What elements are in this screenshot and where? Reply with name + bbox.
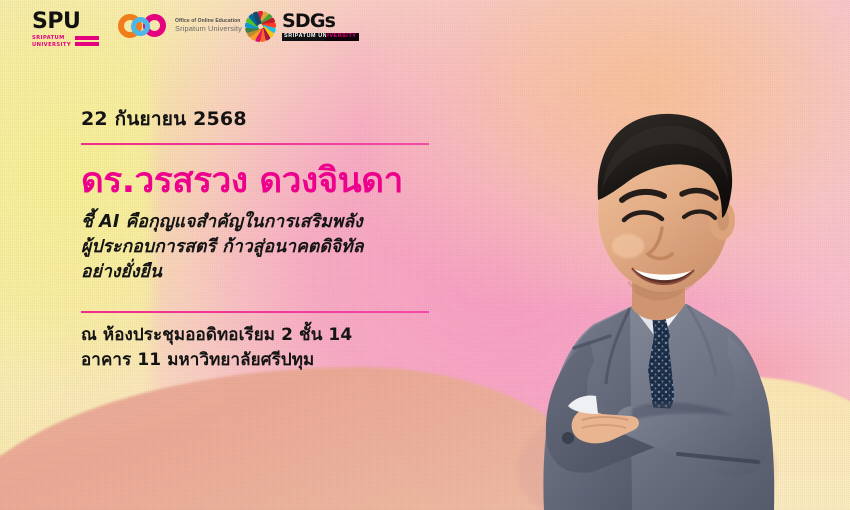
speaker-name: ดร.วรสรวง ดวงจินดา xyxy=(81,162,511,201)
spu-logo: SPU SRIPATUM UNIVERSITY xyxy=(32,11,102,49)
event-tagline: ชี้ AI คือกุญแจสำคัญในการเสริมพลัง ผู้ปร… xyxy=(81,210,511,285)
ooe-ring-blue xyxy=(131,17,150,36)
office-of-online-education-logo: Office of Online Education Sripatum Univ… xyxy=(118,13,242,39)
ooe-logo-line2: Sripatum University xyxy=(175,24,242,33)
speaker-portrait xyxy=(482,40,812,510)
sdgs-wheel-icon xyxy=(244,10,277,43)
spu-logo-line2: UNIVERSITY xyxy=(32,42,71,49)
venue-line-1: ณ ห้องประชุมออดิทอเรียม 2 ชั้น 14 xyxy=(81,323,511,349)
tagline-line-1: ชี้ AI คือกุญแจสำคัญในการเสริมพลัง xyxy=(81,210,511,235)
ooe-rings-icon xyxy=(118,13,170,39)
spu-logo-bar-1 xyxy=(75,36,99,40)
event-date: 22 กันยายน 2568 xyxy=(81,108,511,131)
poster-content: 22 กันยายน 2568 ดร.วรสรวง ดวงจินดา ชี้ A… xyxy=(81,108,511,374)
sdgs-logo: SDGs SRIPATUM UNIVERSITY xyxy=(244,10,359,43)
logo-bar: SPU SRIPATUM UNIVERSITY Office of Online xyxy=(0,0,850,56)
event-venue: ณ ห้องประชุมออดิทอเรียม 2 ชั้น 14 อาคาร … xyxy=(81,323,511,374)
tagline-line-2: ผู้ประกอบการสตรี ก้าวสู่อนาคตดิจิทัล xyxy=(81,235,511,260)
spu-logo-bar-2 xyxy=(75,42,99,46)
sdgs-logo-wordmark: SDGs xyxy=(282,12,359,31)
divider-bottom xyxy=(81,311,429,313)
venue-line-2: อาคาร 11 มหาวิทยาลัยศรีปทุม xyxy=(81,348,511,374)
sdgs-logo-subtitle: SRIPATUM UNIVERSITY xyxy=(282,33,359,40)
spu-logo-wordmark: SPU xyxy=(32,11,102,33)
tagline-line-3: อย่างยั่งยืน xyxy=(81,260,511,285)
event-poster: SPU SRIPATUM UNIVERSITY Office of Online xyxy=(0,0,850,510)
spu-logo-line1: SRIPATUM xyxy=(32,35,71,42)
divider-top xyxy=(81,143,429,145)
